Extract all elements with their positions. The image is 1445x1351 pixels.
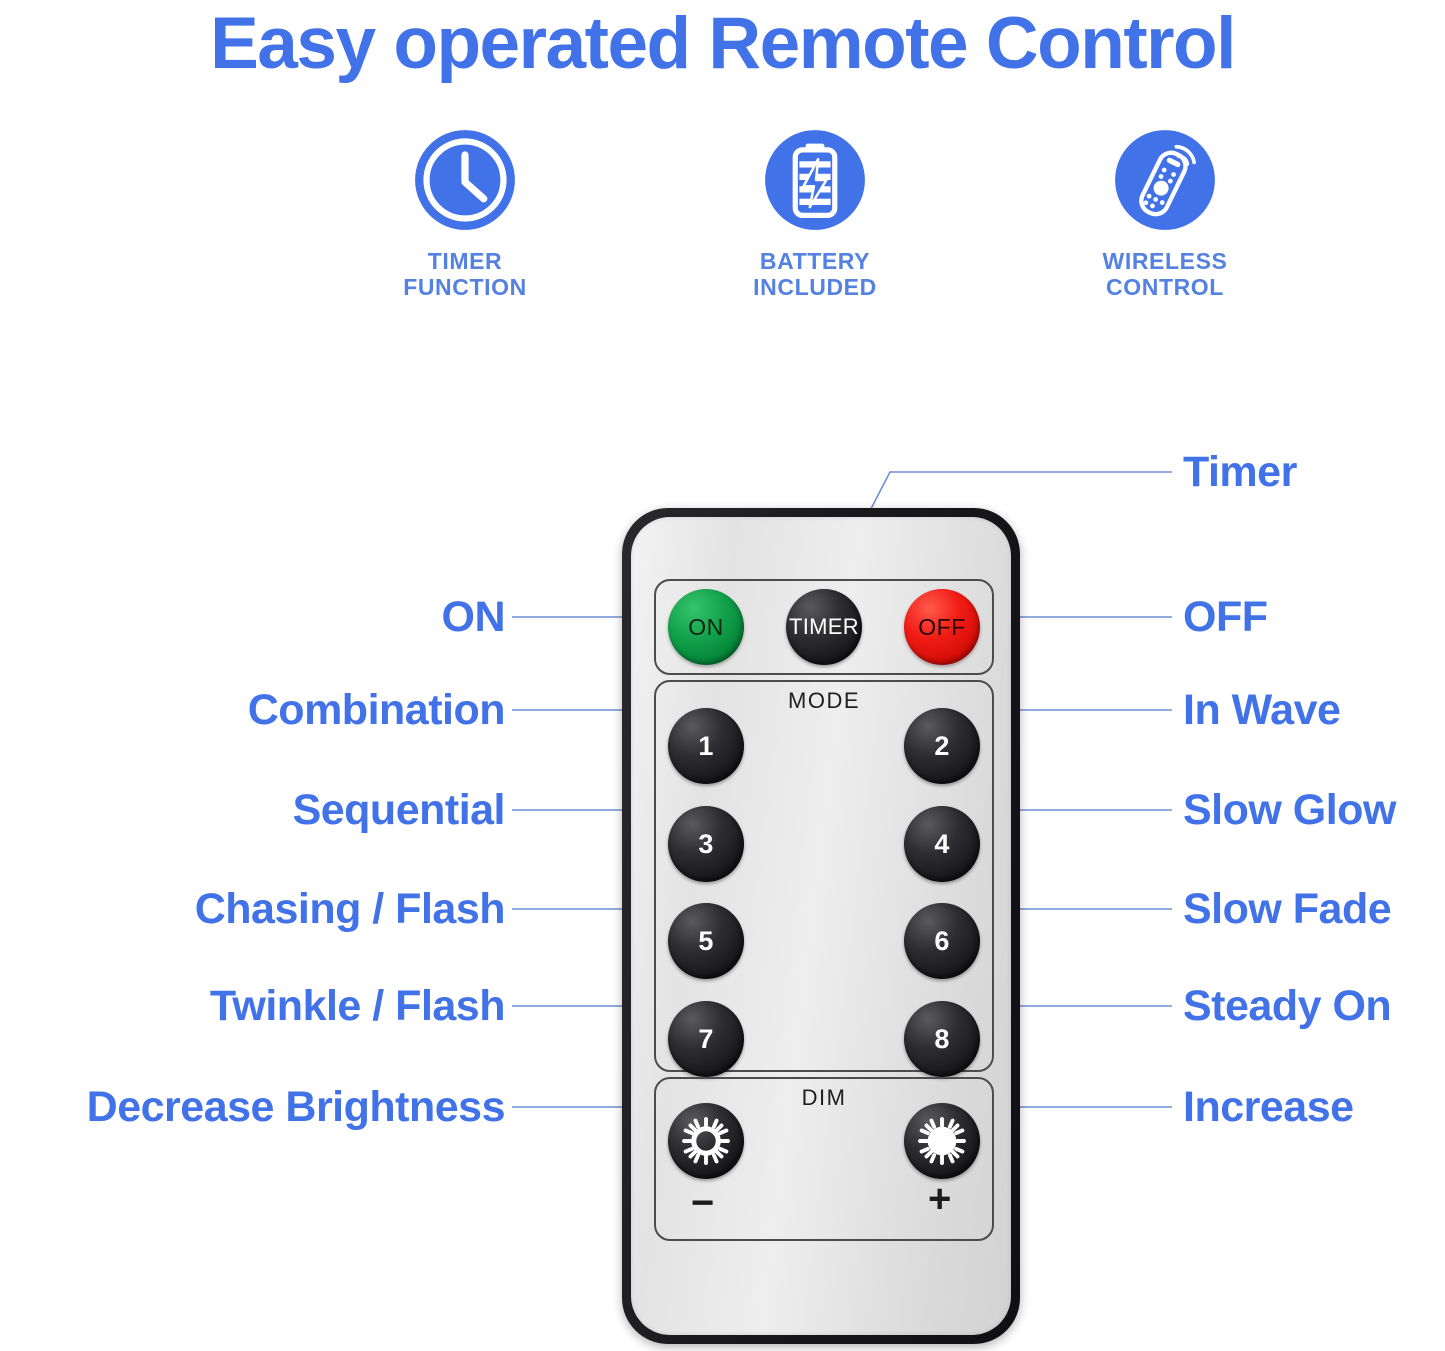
mode-button-1[interactable]: 1 [668,708,744,784]
brightness-increase-icon [915,1114,969,1168]
mode-panel: MODE 1 2 3 4 5 6 [654,680,994,1072]
brightness-decrease-icon [679,1114,733,1168]
callout-on: ON [0,592,505,642]
callout-off: OFF [1183,592,1267,642]
callout-in-wave: In Wave [1183,685,1340,735]
callout-chasing-flash: Chasing / Flash [0,884,505,934]
dim-minus-sign: − [691,1183,714,1223]
callout-steady-on: Steady On [1183,981,1391,1031]
feature-badges: TIMER FUNCTION BATTERY INCLUDED [300,128,1330,300]
mode-button-2[interactable]: 2 [904,708,980,784]
page-title: Easy operated Remote Control [0,2,1445,86]
remote-signal-icon [1113,128,1217,232]
dim-panel: DIM [654,1077,994,1241]
mode-button-8[interactable]: 8 [904,1001,980,1077]
callout-twinkle-flash: Twinkle / Flash [0,981,505,1031]
callout-combination: Combination [0,685,505,735]
remote-faceplate: ON TIMER OFF MODE 1 2 3 [631,517,1011,1335]
callout-timer: Timer [1183,447,1297,497]
dim-plus-sign: + [928,1179,951,1219]
mode-button-7[interactable]: 7 [668,1001,744,1077]
off-button[interactable]: OFF [904,589,980,665]
dim-down-button[interactable] [668,1103,744,1179]
clock-icon [413,128,517,232]
callout-slow-fade: Slow Fade [1183,884,1391,934]
feature-timer-function: TIMER FUNCTION [300,128,630,300]
feature-caption: TIMER FUNCTION [403,248,527,300]
power-panel: ON TIMER OFF [654,579,994,675]
callout-slow-glow: Slow Glow [1183,785,1396,835]
dim-up-button[interactable] [904,1103,980,1179]
callout-increase: Increase [1183,1082,1354,1132]
feature-battery-included: BATTERY INCLUDED [650,128,980,300]
feature-wireless-control: WIRELESS CONTROL [1000,128,1330,300]
callout-decrease-brightness: Decrease Brightness [0,1082,505,1132]
mode-button-3[interactable]: 3 [668,806,744,882]
remote-control: ON TIMER OFF MODE 1 2 3 [622,508,1020,1344]
mode-button-5[interactable]: 5 [668,903,744,979]
timer-button[interactable]: TIMER [786,589,862,665]
battery-icon [763,128,867,232]
on-button[interactable]: ON [668,589,744,665]
mode-button-6[interactable]: 6 [904,903,980,979]
product-infographic: Easy operated Remote Control TIMER FUNCT… [0,0,1445,1351]
feature-caption: WIRELESS CONTROL [1103,248,1228,300]
mode-button-4[interactable]: 4 [904,806,980,882]
feature-caption: BATTERY INCLUDED [753,248,877,300]
callout-sequential: Sequential [0,785,505,835]
